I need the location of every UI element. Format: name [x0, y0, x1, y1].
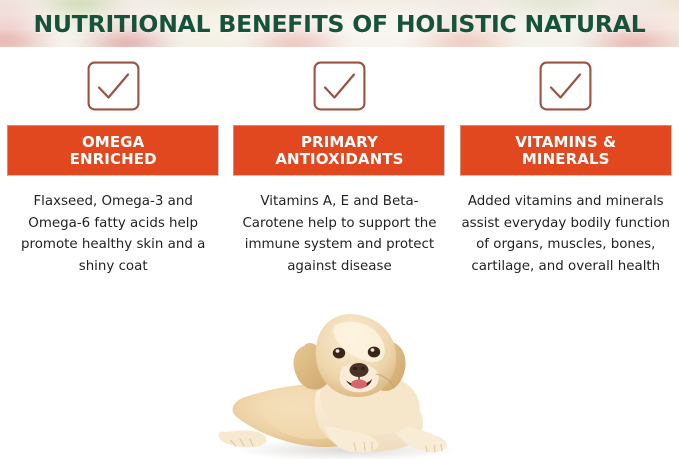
- benefit-heading-bar-omega: OMEGA ENRICHED: [7, 125, 219, 176]
- benefit-heading-line1: VITAMINS &: [515, 133, 616, 151]
- benefit-body-vitamins: Added vitamins and minerals assist every…: [459, 191, 672, 277]
- benefit-heading-label: VITAMINS & MINERALS: [515, 134, 616, 168]
- benefit-heading-line2: ANTIOXIDANTS: [275, 150, 403, 168]
- benefit-column-vitamins: VITAMINS & MINERALS Added vitamins and m…: [453, 47, 679, 277]
- benefit-heading-bar-vitamins: VITAMINS & MINERALS: [460, 125, 672, 176]
- benefit-columns: OMEGA ENRICHED Flaxseed, Omega-3 and Ome…: [0, 47, 679, 277]
- checkbox-check-icon: [539, 61, 592, 111]
- benefit-body-omega: Flaxseed, Omega-3 and Omega-6 fatty acid…: [7, 191, 220, 277]
- benefit-heading-label: PRIMARY ANTIOXIDANTS: [275, 134, 403, 168]
- header-banner: NUTRITIONAL BENEFITS OF HOLISTIC NATURAL: [0, 0, 679, 47]
- page-title: NUTRITIONAL BENEFITS OF HOLISTIC NATURAL: [0, 0, 679, 47]
- golden-retriever-photo: [196, 300, 496, 459]
- benefit-column-omega: OMEGA ENRICHED Flaxseed, Omega-3 and Ome…: [0, 47, 226, 277]
- checkbox-check-icon: [313, 61, 366, 111]
- benefit-column-antioxidants: PRIMARY ANTIOXIDANTS Vitamins A, E and B…: [226, 47, 452, 277]
- benefit-heading-line1: PRIMARY: [301, 133, 378, 151]
- benefit-heading-line2: ENRICHED: [70, 150, 157, 168]
- product-photo-area: [0, 300, 679, 459]
- checkbox-check-icon: [87, 61, 140, 111]
- benefit-heading-bar-antioxidants: PRIMARY ANTIOXIDANTS: [233, 125, 445, 176]
- benefit-body-antioxidants: Vitamins A, E and Beta-Carotene help to …: [233, 191, 446, 277]
- benefit-heading-label: OMEGA ENRICHED: [70, 134, 157, 168]
- benefit-heading-line2: MINERALS: [522, 150, 610, 168]
- nutritional-benefits-infographic: NUTRITIONAL BENEFITS OF HOLISTIC NATURAL…: [0, 0, 679, 459]
- benefit-heading-line1: OMEGA: [82, 133, 144, 151]
